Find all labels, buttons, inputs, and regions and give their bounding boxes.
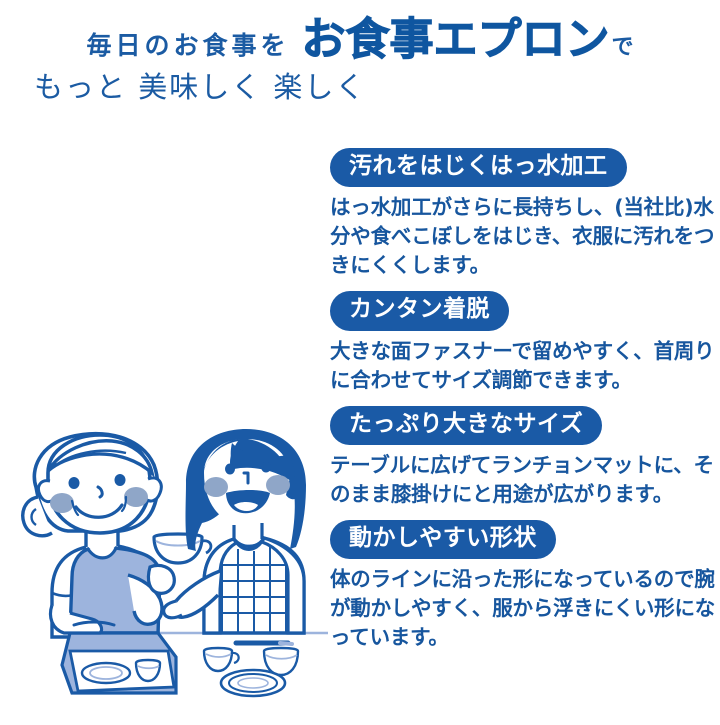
elderly-ear-right xyxy=(146,478,161,501)
young-woman-eye-left xyxy=(225,464,235,475)
product-illustration xyxy=(8,425,328,720)
headline-emphasis-text: お食事エプロン xyxy=(302,18,610,62)
feature-item: カンタン着脱 大きな面ファスナーで留めやすく、首周りに合わせてサイズ調節できます… xyxy=(330,291,720,394)
feature-badge: 汚れをはじくはっ水加工 xyxy=(330,148,627,187)
feature-item: たっぷり大きなサイズ テーブルに広げてランチョンマットに、そのまま膝掛けにと用途… xyxy=(330,406,720,509)
young-woman-blush-right xyxy=(266,475,290,495)
feature-body-text: はっ水加工がさらに長持ちし、(当社比)水分や食べこぼしをはじき、衣服に汚れをつき… xyxy=(330,193,720,280)
young-woman-neck xyxy=(234,523,262,541)
tableware-plate-center xyxy=(238,678,268,688)
elderly-eye-left xyxy=(69,477,80,489)
feature-item: 動かしやすい形状 体のラインに沿った形になっているので腕が動かしやすく、服から浮… xyxy=(330,520,720,652)
feature-badge: たっぷり大きなサイズ xyxy=(330,406,602,445)
feature-body-text: 体のラインに沿った形になっているので腕が動かしやすく、服から浮きにくい形になって… xyxy=(330,565,720,652)
headline-lead-text: 毎日のお食事を xyxy=(86,33,289,58)
elderly-blush-left xyxy=(50,493,74,513)
tableware-cup xyxy=(204,648,232,671)
feature-body-text: 大きな面ファスナーで留めやすく、首周りに合わせてサイズ調節できます。 xyxy=(330,337,720,395)
headline-line-2: もっと 美味しく 楽しく xyxy=(0,73,720,102)
illustration-svg xyxy=(8,425,328,720)
tray-bowl xyxy=(136,660,160,681)
elderly-hand-right xyxy=(148,565,174,593)
tableware-group xyxy=(204,643,298,696)
elderly-eye-right xyxy=(115,474,126,486)
teacup-handle xyxy=(202,541,211,553)
young-woman-figure xyxy=(164,429,306,633)
headline-line-1: 毎日のお食事を お食事エプロン で xyxy=(0,18,720,62)
chopsticks-rest xyxy=(280,643,292,644)
headline-suffix-text: で xyxy=(612,37,634,59)
young-woman-eye-right xyxy=(261,462,271,473)
feature-body-text: テーブルに広げてランチョンマットに、そのまま膝掛けにと用途が広がります。 xyxy=(330,451,720,509)
tray-plate-inner xyxy=(90,667,122,679)
headline-block: 毎日のお食事を お食事エプロン で もっと 美味しく 楽しく xyxy=(0,0,720,102)
feature-list: 汚れをはじくはっ水加工 はっ水加工がさらに長持ちし、(当社比)水分や食べこぼしを… xyxy=(330,148,720,653)
feature-item: 汚れをはじくはっ水加工 はっ水加工がさらに長持ちし、(当社比)水分や食べこぼしを… xyxy=(330,148,720,280)
elderly-person-figure xyxy=(23,434,211,693)
feature-badge: 動かしやすい形状 xyxy=(330,520,556,559)
elderly-blush-right xyxy=(124,487,148,507)
feature-badge: カンタン着脱 xyxy=(330,291,509,330)
young-woman-blush-left xyxy=(204,477,228,497)
